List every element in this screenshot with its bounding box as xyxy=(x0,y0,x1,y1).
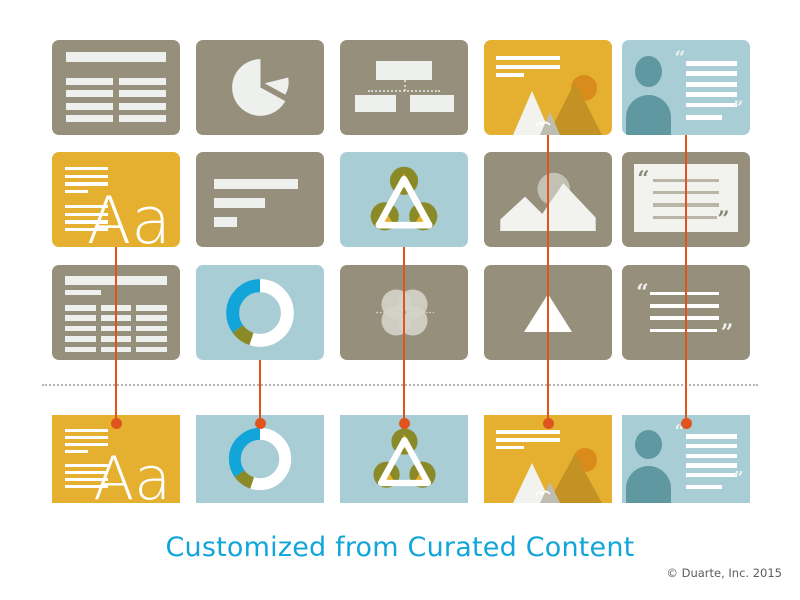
list-cell-bar xyxy=(65,315,96,321)
avatar-head xyxy=(635,56,662,87)
connector-dot xyxy=(399,418,410,429)
bar-1 xyxy=(214,179,298,189)
type-sample-line xyxy=(65,436,109,439)
text-line xyxy=(496,56,560,60)
quote-text-line xyxy=(686,473,737,477)
table-cell-bar xyxy=(66,103,113,110)
org-node-left xyxy=(355,95,396,112)
text-line xyxy=(496,65,560,69)
connector-line xyxy=(685,135,687,423)
quote-text-line xyxy=(650,329,717,333)
quote-close-icon: ” xyxy=(717,208,729,229)
type-sample-line xyxy=(65,429,109,432)
table-cell-bar xyxy=(66,78,113,85)
avatar-shoulders xyxy=(626,466,671,503)
aa-glyph: Aa xyxy=(93,451,171,503)
quote-close-icon: ” xyxy=(733,99,744,118)
org-node-top xyxy=(376,61,432,80)
list-cell-bar xyxy=(136,347,167,353)
list-cell-bar xyxy=(65,326,96,332)
table-cell-bar xyxy=(119,78,166,85)
pie-chart-icon xyxy=(231,58,290,117)
bird-icon xyxy=(535,484,549,491)
table-cell-bar xyxy=(66,115,113,122)
attribution-line xyxy=(686,115,722,120)
quote-text-line xyxy=(686,454,737,458)
list-cell-bar xyxy=(136,305,167,311)
quote-open-icon: “ xyxy=(637,168,649,189)
type-sample-line xyxy=(65,175,109,178)
quote-text-line xyxy=(686,463,737,467)
triad-diagram-icon xyxy=(367,163,441,237)
table-slide[interactable] xyxy=(52,40,180,135)
quote-text-line xyxy=(686,92,737,97)
bar-2 xyxy=(214,198,265,208)
copyright-notice: © Duarte, Inc. 2015 xyxy=(666,566,782,580)
testimonial-slide[interactable]: “” xyxy=(622,40,750,135)
quote-text-line xyxy=(686,82,737,87)
avatar-head xyxy=(635,430,662,459)
attribution-line xyxy=(686,485,722,489)
connector-line xyxy=(115,247,117,423)
org-connector-stem xyxy=(404,80,406,91)
mountain-photo-slide[interactable] xyxy=(484,40,612,135)
list-cell-bar xyxy=(65,336,96,342)
connector-dot xyxy=(111,418,122,429)
quote-text-line xyxy=(686,103,737,108)
list-cell-bar xyxy=(65,347,96,353)
triad-diagram-slide[interactable] xyxy=(340,152,468,247)
connector-line xyxy=(547,135,549,423)
avatar-shoulders xyxy=(626,95,671,135)
quote-open-icon: “ xyxy=(674,49,685,68)
text-line xyxy=(496,73,524,77)
list-cell-bar xyxy=(136,315,167,321)
list-cell-bar xyxy=(136,326,167,332)
quote-text-line xyxy=(686,71,737,76)
connector-line xyxy=(259,360,261,423)
table-cell-bar xyxy=(119,115,166,122)
donut-chart-slide[interactable] xyxy=(196,265,324,360)
donut-chart-icon xyxy=(222,275,298,351)
table-cell-bar xyxy=(119,90,166,97)
list-cell-bar xyxy=(136,336,167,342)
pie-chart-slide[interactable] xyxy=(196,40,324,135)
bar-3 xyxy=(214,217,237,227)
type-sample-line xyxy=(65,167,109,170)
text-line xyxy=(496,446,524,450)
aa-glyph: Aa xyxy=(87,191,171,247)
bird-icon xyxy=(535,115,549,122)
connector-dot xyxy=(543,418,554,429)
donut-chart-icon xyxy=(225,424,295,494)
bar-chart-slide[interactable] xyxy=(196,152,324,247)
quote-text-line xyxy=(686,444,737,448)
quote-open-icon: “ xyxy=(636,282,649,304)
quote-text-line xyxy=(686,61,737,66)
org-chart-slide[interactable] xyxy=(340,40,468,135)
page-title: Customized from Curated Content xyxy=(0,532,800,563)
connector-dot xyxy=(255,418,266,429)
quote-text-line xyxy=(686,434,737,438)
infographic-canvas: “”Aa“”“”Aa“”Customized from Curated Cont… xyxy=(0,0,800,600)
list-cell-bar xyxy=(65,305,96,311)
list-subtitle-bar xyxy=(65,290,101,296)
quote-close-icon: ” xyxy=(721,322,734,344)
type-sample-line xyxy=(65,450,88,453)
connector-dot xyxy=(681,418,692,429)
quote-close-icon: ” xyxy=(733,470,743,488)
type-sample-line xyxy=(65,190,88,193)
org-node-right xyxy=(410,95,454,112)
table-cell-bar xyxy=(119,103,166,110)
section-divider xyxy=(42,384,758,386)
connector-line xyxy=(403,247,405,423)
table-cell-bar xyxy=(66,90,113,97)
typography-slide[interactable]: Aa xyxy=(52,152,180,247)
triad-diagram-icon xyxy=(370,425,439,494)
table-header-bar xyxy=(66,52,166,62)
text-line xyxy=(496,438,560,442)
text-line xyxy=(496,430,560,434)
